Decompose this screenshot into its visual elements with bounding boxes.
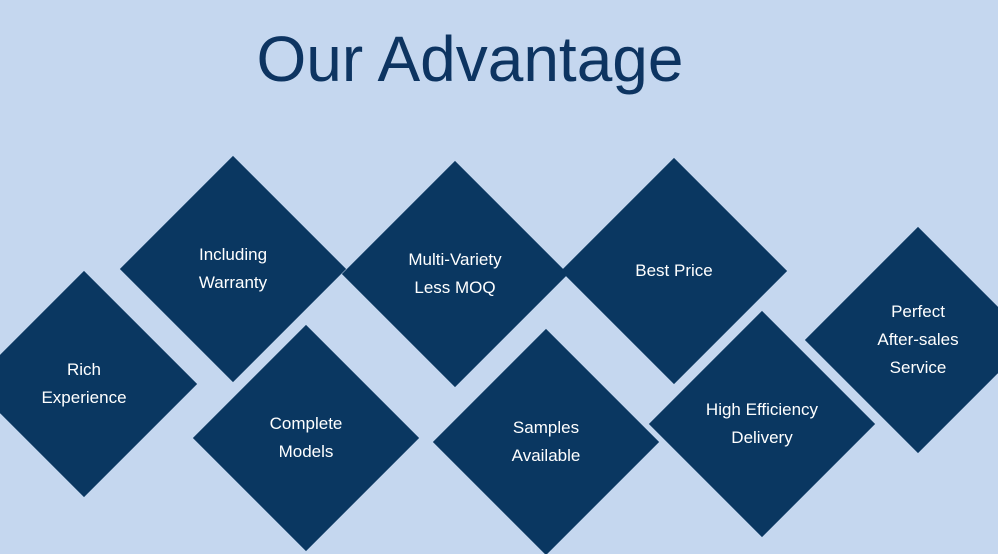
- advantage-slide: Our Advantage RichExperienceIncludingWar…: [0, 0, 998, 554]
- page-title: Our Advantage: [0, 21, 940, 98]
